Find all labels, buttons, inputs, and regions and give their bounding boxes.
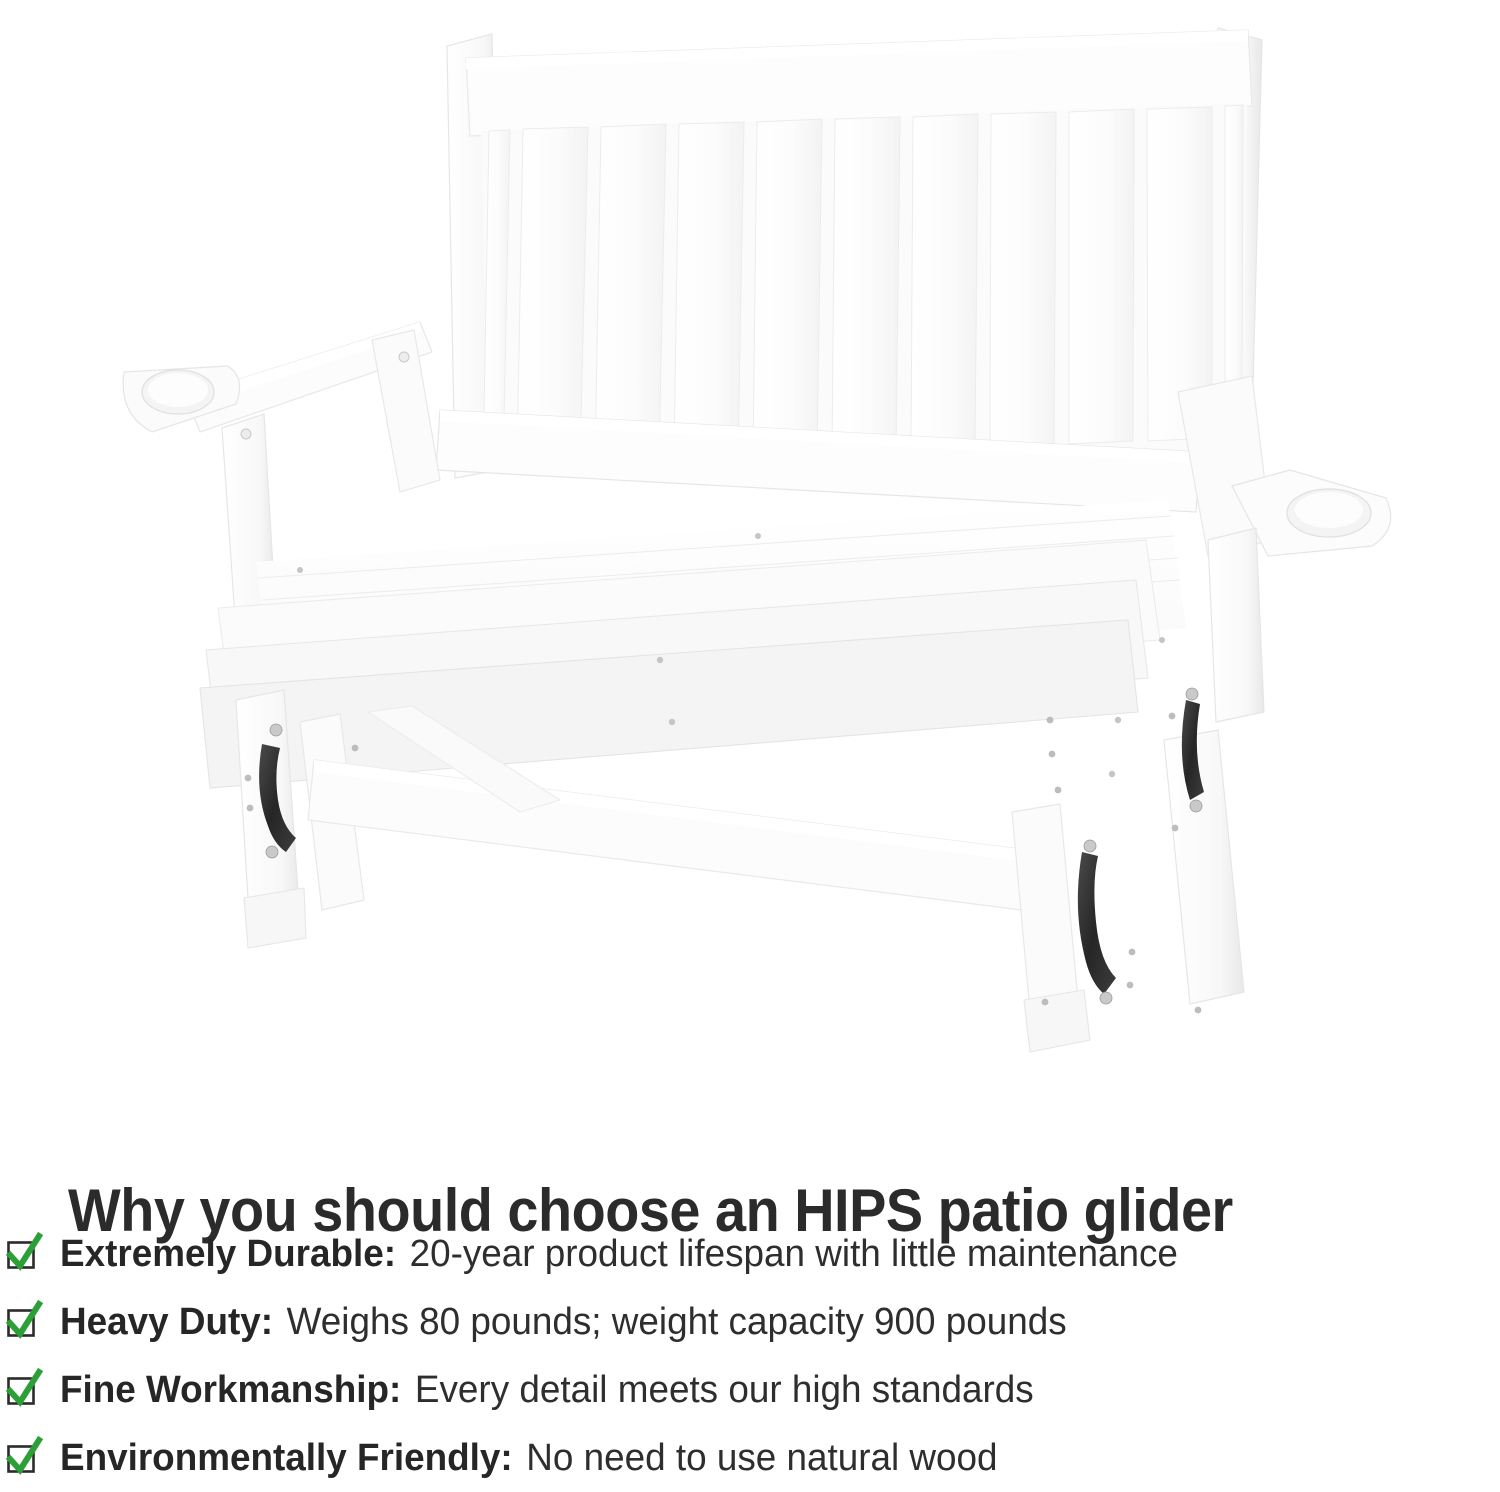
checked-checkbox-icon [6,1234,40,1274]
feature-text: Heavy Duty:Weighs 80 pounds; weight capa… [60,1300,1067,1344]
feature-item-heavy-duty: Heavy Duty:Weighs 80 pounds; weight capa… [0,1288,1500,1356]
checked-checkbox-icon [6,1302,40,1342]
feature-list: Extremely Durable:20-year product lifesp… [0,1220,1500,1492]
product-image [0,0,1500,1120]
checked-checkbox-icon [6,1370,40,1410]
feature-description: Weighs 80 pounds; weight capacity 900 po… [287,1301,1067,1343]
marketing-copy-block: Why you should choose an HIPS patio glid… [0,1120,1500,1490]
feature-description: No need to use natural wood [526,1437,997,1479]
feature-text: Environmentally Friendly:No need to use … [60,1436,998,1480]
feature-item-extremely-durable: Extremely Durable:20-year product lifesp… [0,1220,1500,1288]
feature-label: Heavy Duty: [60,1301,273,1343]
feature-description: Every detail meets our high standards [415,1369,1034,1411]
feature-text: Fine Workmanship:Every detail meets our … [60,1368,1034,1412]
slatted-backrest [481,103,1247,470]
checked-checkbox-icon [6,1438,40,1478]
feature-text: Extremely Durable:20-year product lifesp… [60,1232,1178,1276]
feature-label: Environmentally Friendly: [60,1437,513,1479]
product-illustration [0,0,1500,1120]
feature-label: Fine Workmanship: [60,1369,401,1411]
feature-description: 20-year product lifespan with little mai… [410,1233,1178,1275]
feature-item-fine-workmanship: Fine Workmanship:Every detail meets our … [0,1356,1500,1424]
feature-label: Extremely Durable: [60,1233,396,1275]
feature-item-environmentally-friendly: Environmentally Friendly:No need to use … [0,1424,1500,1492]
